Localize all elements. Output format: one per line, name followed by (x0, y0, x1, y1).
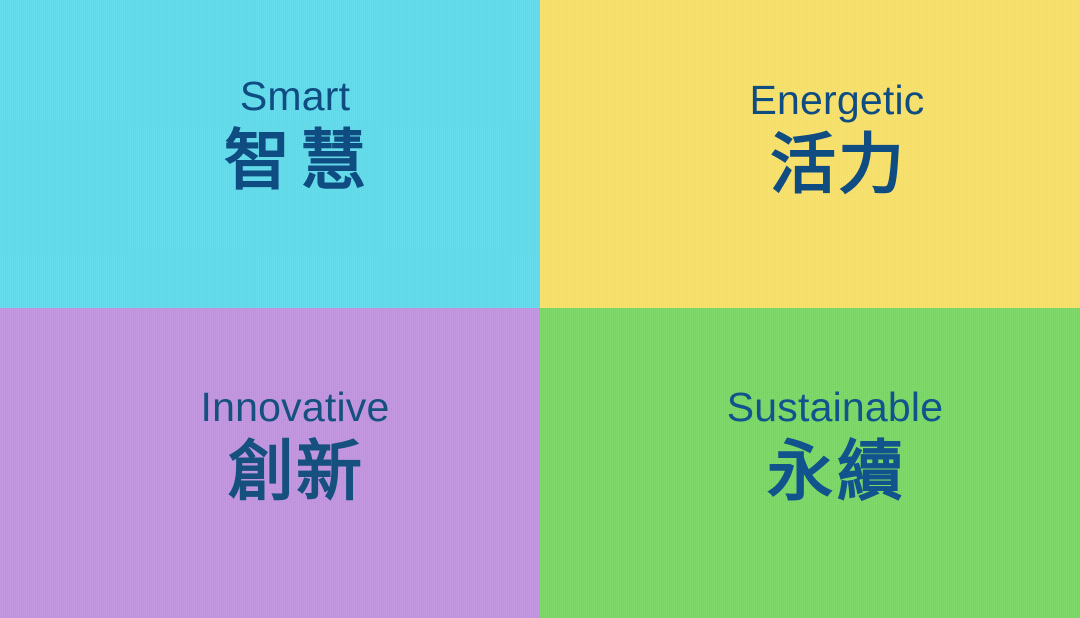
brand-values-grid: Smart 智慧 Energetic 活力 Innovative 創新 Sust… (0, 0, 1080, 618)
value-chinese-energetic: 活力 (749, 128, 924, 202)
value-chinese-sustainable: 永續 (727, 435, 943, 509)
value-block-innovative: Innovative 創新 (201, 386, 390, 509)
value-chinese-innovative: 創新 (201, 435, 390, 509)
quadrant-innovative: Innovative 創新 (0, 308, 540, 618)
value-english-sustainable: Sustainable (727, 386, 943, 429)
value-block-energetic: Energetic 活力 (749, 79, 924, 202)
value-english-innovative: Innovative (201, 386, 390, 429)
value-english-energetic: Energetic (749, 79, 924, 122)
value-block-smart: Smart 智慧 (214, 75, 376, 198)
value-block-sustainable: Sustainable 永續 (727, 386, 943, 509)
quadrant-smart: Smart 智慧 (0, 0, 540, 308)
value-chinese-smart: 智慧 (214, 124, 376, 198)
quadrant-sustainable: Sustainable 永續 (540, 308, 1080, 618)
value-english-smart: Smart (214, 75, 376, 118)
quadrant-energetic: Energetic 活力 (540, 0, 1080, 308)
